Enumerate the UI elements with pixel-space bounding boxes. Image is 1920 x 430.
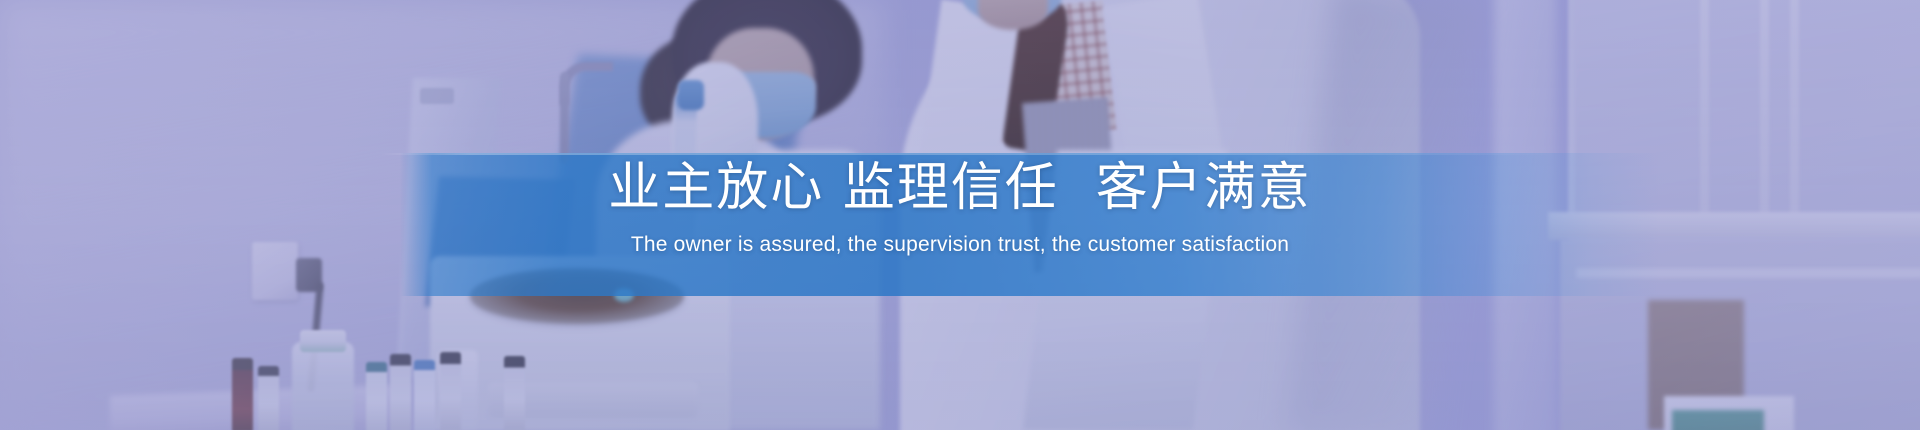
blue-overlay-band bbox=[0, 153, 1920, 296]
hero-banner: 业主放心 监理信任 客户满意 The owner is assured, the… bbox=[0, 0, 1920, 430]
band-top-highlight bbox=[0, 153, 1920, 155]
